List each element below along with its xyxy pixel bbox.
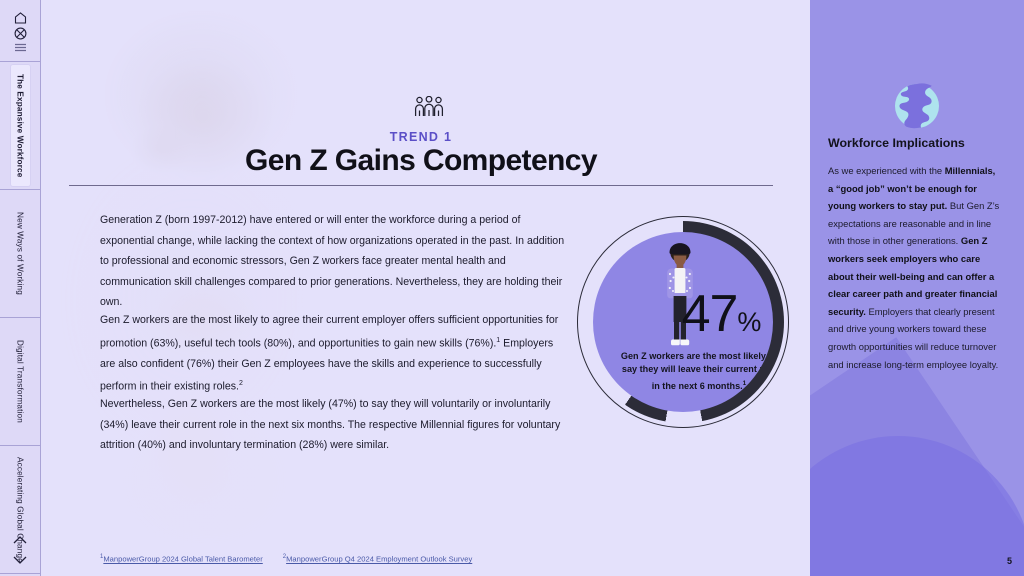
sidebar-item-label: Digital Transformation [16,340,25,423]
footnote-item[interactable]: 2ManpowerGroup Q4 2024 Employment Outloo… [283,554,472,564]
slide-canvas: TREND 1 Gen Z Gains Competency Generatio… [41,0,1024,576]
globe-icon [893,82,941,135]
p2-part-a: Gen Z workers are the most likely to agr… [100,314,558,349]
body-paragraph-2: Gen Z workers are the most likely to agr… [100,310,570,397]
panel-mid-bold: Gen Z workers seek employers who care ab… [828,235,997,316]
body-paragraph-1: Generation Z (born 1997-2012) have enter… [100,210,570,313]
footnote-list: 1ManpowerGroup 2024 Global Talent Barome… [100,554,472,564]
panel-lead-plain: As we experienced with the [828,165,945,176]
chevron-down-icon[interactable] [12,552,28,570]
sidebar-item-label: The Expansive Workforce [11,65,30,186]
sidebar-item-label: New Ways of Working [16,212,25,295]
donut-caption: Gen Z workers are the most likely to say… [617,350,773,393]
rail-nav-arrows [0,532,40,570]
donut-percent-symbol: % [737,307,760,337]
workforce-implications-panel: Workforce Implications As we experienced… [810,0,1024,576]
circle-x-icon[interactable] [14,27,27,40]
rail-icon-group [0,0,40,62]
panel-body: As we experienced with the Millennials, … [828,162,1002,373]
body-paragraph-3: Nevertheless, Gen Z workers are the most… [100,394,570,456]
sidebar-item-digital-transformation[interactable]: Digital Transformation [0,318,40,446]
slide-viewer: The Expansive Workforce New Ways of Work… [0,0,1024,576]
donut-caption-text: Gen Z workers are the most likely to say… [621,351,773,391]
decorative-circle-shape [810,436,1024,576]
rail-tab-list: The Expansive Workforce New Ways of Work… [0,62,40,574]
sidebar-item-the-expansive-workforce[interactable]: The Expansive Workforce [0,62,40,190]
home-icon[interactable] [14,12,27,24]
left-nav-rail: The Expansive Workforce New Ways of Work… [0,0,41,576]
trend-eyebrow: TREND 1 [41,130,801,144]
donut-value-number: 47 [682,285,738,343]
footnote-link[interactable]: ManpowerGroup Q4 2024 Employment Outlook… [286,555,472,564]
donut-value: 47% [593,284,773,344]
donut-caption-footnote-ref[interactable]: 1 [743,380,747,387]
page-number: 5 [1007,556,1012,566]
title-divider [69,185,773,186]
panel-title: Workforce Implications [828,136,1008,150]
footnote-ref-2[interactable]: 2 [239,380,243,387]
chevron-up-icon[interactable] [12,532,28,550]
menu-icon[interactable] [14,43,27,52]
footnote-link[interactable]: ManpowerGroup 2024 Global Talent Baromet… [103,555,262,564]
donut-inner-fill: 47% Gen Z workers are the most likely to… [593,232,773,412]
sidebar-item-new-ways-of-working[interactable]: New Ways of Working [0,190,40,318]
page-title: Gen Z Gains Competency [41,144,801,178]
donut-chart: 47% Gen Z workers are the most likely to… [577,216,789,428]
group-of-people-icon [413,96,445,123]
footnote-item[interactable]: 1ManpowerGroup 2024 Global Talent Barome… [100,554,263,564]
